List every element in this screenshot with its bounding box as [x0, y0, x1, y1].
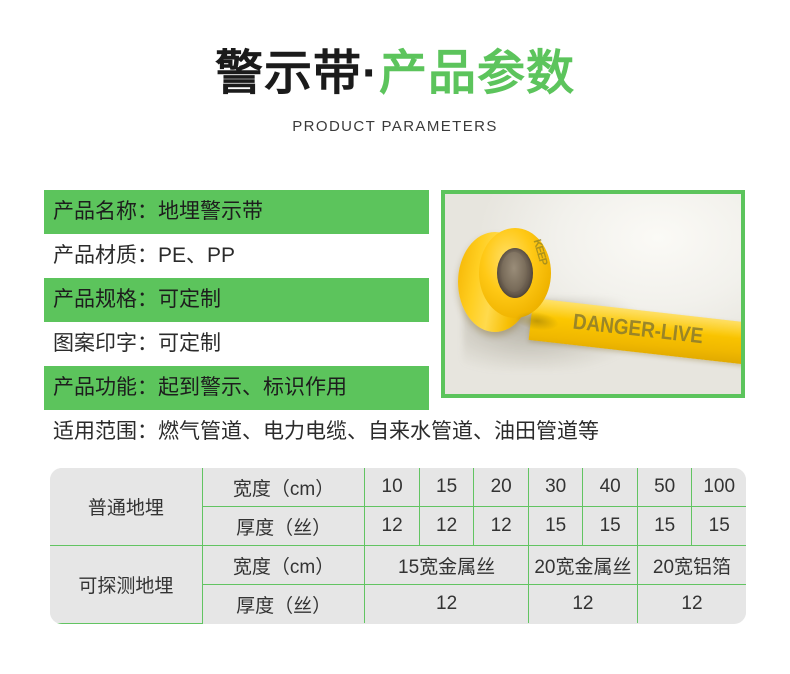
table-cell-width-4: 30: [528, 468, 583, 507]
spec-text-application: 适用范围：燃气管道、电力电缆、自来水管道、油田管道等: [44, 410, 608, 454]
table-cell-thickness-5: 15: [583, 507, 638, 546]
table-group-label-ordinary: 普通地埋: [50, 468, 202, 546]
table-metric-label-width-ordinary: 宽度（cm）: [202, 468, 365, 507]
table-cell-thickness-2: 12: [419, 507, 474, 546]
page-subtitle: PRODUCT PARAMETERS: [0, 118, 790, 135]
table-cell-width-6: 50: [637, 468, 692, 507]
table-metric-label-thickness-ordinary: 厚度（丝）: [202, 507, 365, 546]
table-row: 普通地埋 宽度（cm） 10 15 20 30 40 50 100: [50, 468, 746, 507]
table-cell-width-3: 20: [474, 468, 529, 507]
page-header: 警示带·产品参数 PRODUCT PARAMETERS: [0, 0, 790, 135]
spec-text-function: 产品功能：起到警示、标识作用: [44, 366, 429, 410]
spec-table-grid: 普通地埋 宽度（cm） 10 15 20 30 40 50 100 厚度（丝） …: [50, 468, 746, 624]
page-title-black: 警示带·: [215, 47, 379, 100]
table-cell-detectable-width-1: 15宽金属丝: [365, 546, 529, 585]
table-cell-width-1: 10: [365, 468, 420, 507]
spec-text-product-name: 产品名称：地埋警示带: [44, 190, 429, 234]
table-group-label-detectable: 可探测地埋: [50, 546, 202, 624]
table-row: 可探测地埋 宽度（cm） 15宽金属丝 20宽金属丝 20宽铝箔: [50, 546, 746, 585]
table-cell-thickness-1: 12: [365, 507, 420, 546]
product-photo: DANGER-LIVE KEEP: [441, 190, 745, 398]
table-cell-detectable-thickness-2: 12: [528, 585, 637, 624]
table-cell-thickness-7: 15: [692, 507, 746, 546]
table-cell-thickness-6: 15: [637, 507, 692, 546]
spec-row-application: 适用范围：燃气管道、电力电缆、自来水管道、油田管道等: [44, 410, 754, 454]
spec-table: 普通地埋 宽度（cm） 10 15 20 30 40 50 100 厚度（丝） …: [50, 468, 746, 624]
table-cell-thickness-3: 12: [474, 507, 529, 546]
spec-text-material: 产品材质：PE、PP: [44, 234, 244, 278]
table-cell-width-7: 100: [692, 468, 746, 507]
table-cell-thickness-4: 15: [528, 507, 583, 546]
tape-roll-core-inner: [501, 252, 527, 292]
table-cell-detectable-width-3: 20宽铝箔: [637, 546, 746, 585]
table-cell-detectable-thickness-3: 12: [637, 585, 746, 624]
page-title-green: 产品参数: [379, 47, 575, 100]
table-cell-detectable-thickness-1: 12: [365, 585, 529, 624]
table-metric-label-width-detectable: 宽度（cm）: [202, 546, 365, 585]
table-metric-label-thickness-detectable: 厚度（丝）: [202, 585, 365, 624]
table-cell-width-2: 15: [419, 468, 474, 507]
spec-text-specification: 产品规格：可定制: [44, 278, 429, 322]
page-title: 警示带·产品参数: [0, 44, 790, 104]
spec-text-printing: 图案印字：可定制: [44, 322, 230, 366]
table-cell-width-5: 40: [583, 468, 638, 507]
table-cell-detectable-width-2: 20宽金属丝: [528, 546, 637, 585]
